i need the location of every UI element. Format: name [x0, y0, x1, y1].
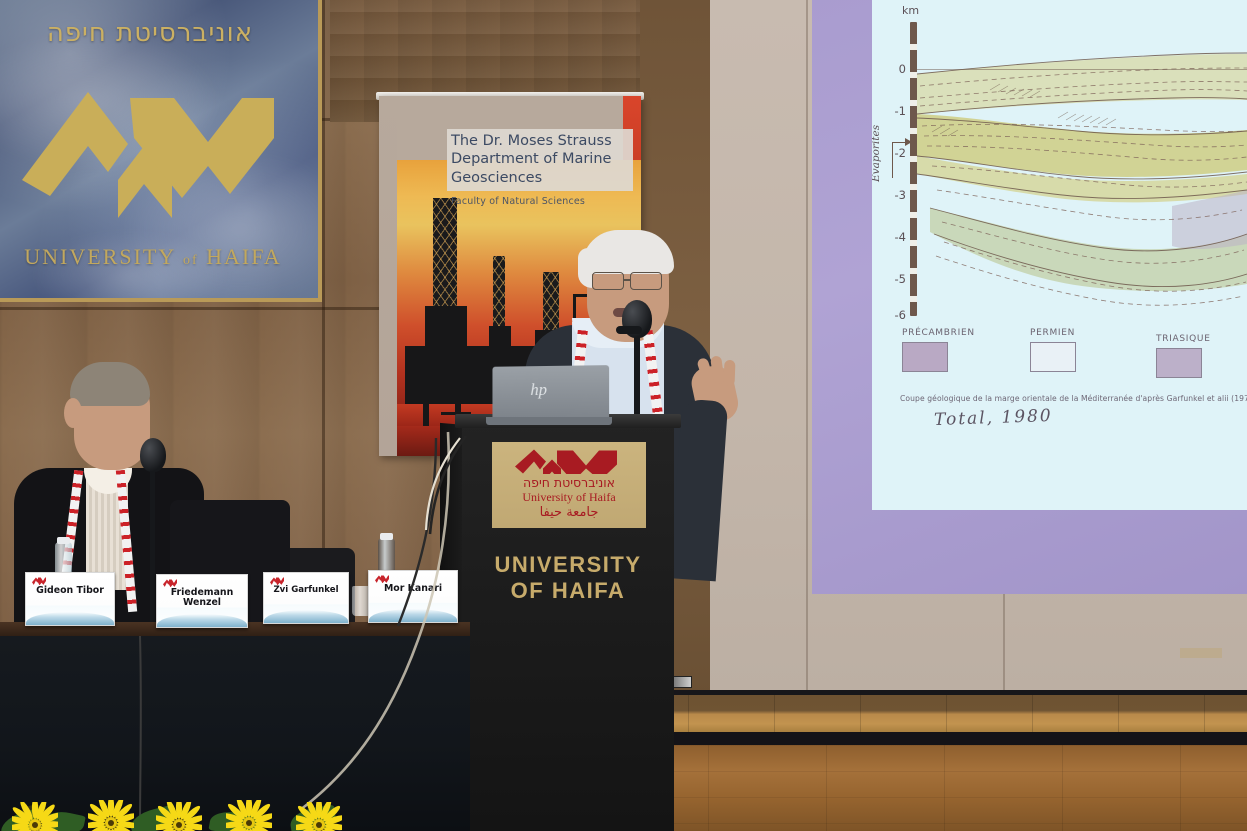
- university-of-haifa-chevron-logo: [514, 446, 624, 474]
- gerbera-flower: [296, 802, 342, 831]
- legend-label: PRÉCAMBRIEN: [902, 328, 975, 338]
- legend-swatch: [1156, 348, 1202, 378]
- speaker-glasses-left-lens: [592, 272, 624, 290]
- wall-seam: [806, 0, 808, 690]
- banner-subtitle: Faculty of Natural Sciences: [451, 196, 641, 207]
- conference-photo-scene: אוניברסיטת חיפה UNIVERSITY of HAIFA: [0, 0, 1247, 831]
- gerbera-flower: [12, 802, 58, 831]
- legend-swatch: [1030, 342, 1076, 372]
- podium-cables: [400, 430, 520, 550]
- legend-label: TRIASIQUE: [1156, 334, 1211, 344]
- evaporites-arrow-icon: [905, 138, 912, 146]
- legend-item: PERMIEN: [1030, 328, 1076, 372]
- sea-level-line: [917, 69, 1247, 70]
- university-wall-plaque: אוניברסיטת חיפה UNIVERSITY of HAIFA: [0, 0, 322, 302]
- gerbera-flower: [226, 800, 272, 831]
- tick-label: -6: [880, 308, 906, 322]
- plaque-english-text: UNIVERSITY of HAIFA: [0, 244, 306, 270]
- evaporites-axis-label: Evaporites: [872, 125, 882, 182]
- evaporites-bracket: [892, 142, 912, 178]
- university-of-haifa-chevron-logo: [22, 68, 274, 218]
- podium-arabic-text: جامعة حيفا: [540, 505, 599, 520]
- speaker-hair-side: [578, 248, 592, 288]
- speaker-glasses-right-lens: [630, 272, 662, 290]
- plaque-hebrew-text: אוניברסיטת חיפה: [0, 18, 300, 48]
- panelist-hair: [70, 362, 150, 406]
- legend-item: TRIASIQUE: [1156, 334, 1211, 378]
- speaker-mic-clip: [616, 326, 642, 334]
- axis-unit-label: km: [902, 4, 919, 17]
- slide-handwritten-note: Total, 1980: [934, 406, 1053, 430]
- legend-label: PERMIEN: [1030, 328, 1076, 338]
- tick-label: 0: [880, 62, 906, 76]
- wall-mark: [1180, 648, 1222, 658]
- banner-title: The Dr. Moses Strauss Department of Mari…: [447, 129, 633, 191]
- gerbera-flower: [88, 800, 134, 831]
- hp-logo: hp: [530, 380, 547, 400]
- speaker-glasses-bridge: [624, 279, 630, 281]
- tick-label: -5: [880, 272, 906, 286]
- tick-label: -4: [880, 230, 906, 244]
- legend-swatch: [902, 342, 948, 372]
- geological-cross-section: [872, 0, 1247, 334]
- slide-legend: PRÉCAMBRIEN PERMIEN TRIASIQUE: [902, 328, 1247, 384]
- podium-english-text: University of Haifa: [522, 490, 615, 505]
- presenter-laptop[interactable]: hp: [492, 365, 609, 419]
- speaker-finger: [724, 360, 736, 386]
- gerbera-flower: [156, 802, 202, 831]
- tick-label: -3: [880, 188, 906, 202]
- slide-caption: Coupe géologique de la marge orientale d…: [900, 394, 1247, 403]
- projected-slide: km 0 -1 -2 -3 -4 -5 -6 Evaporites PRÉCAM…: [872, 0, 1247, 510]
- tick-label: -1: [880, 104, 906, 118]
- podium-hebrew-text: אוניברסיטת חיפה: [523, 475, 615, 490]
- legend-item: PRÉCAMBRIEN: [902, 328, 975, 372]
